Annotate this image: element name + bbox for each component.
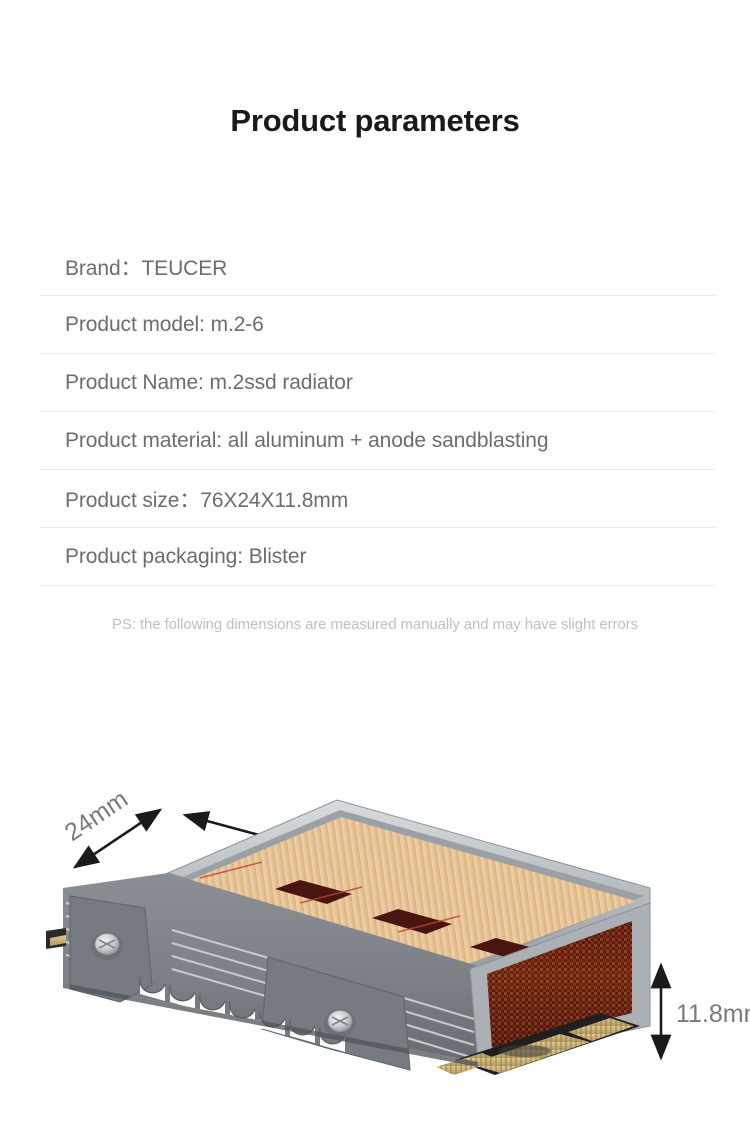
product-illustration: 24mm 76mm bbox=[0, 770, 750, 1143]
table-row: Brand：TEUCER bbox=[40, 238, 715, 296]
spec-product-name: Product Name: m.2ssd radiator bbox=[40, 371, 353, 395]
table-row: Product packaging: Blister bbox=[40, 528, 715, 586]
table-row: Product size：76X24X11.8mm bbox=[40, 470, 715, 528]
table-row: Product Name: m.2ssd radiator bbox=[40, 354, 715, 412]
measurement-disclaimer-note: PS: the following dimensions are measure… bbox=[0, 616, 750, 633]
dimension-11-8mm: 11.8mm bbox=[661, 965, 750, 1058]
pcb-stub-left bbox=[46, 928, 66, 949]
spec-brand: Brand：TEUCER bbox=[40, 252, 227, 282]
screw-head-right bbox=[324, 1009, 356, 1037]
screw-head-left bbox=[91, 932, 123, 960]
spec-product-model: Product model: m.2-6 bbox=[40, 313, 264, 337]
dimension-24mm: 24mm bbox=[60, 785, 160, 867]
table-row: Product material: all aluminum + anode s… bbox=[40, 412, 715, 470]
heatsink-render bbox=[46, 800, 650, 1075]
dimension-24mm-label: 24mm bbox=[60, 785, 133, 847]
spec-product-packaging: Product packaging: Blister bbox=[40, 545, 306, 569]
product-spec-table: Brand：TEUCER Product model: m.2-6 Produc… bbox=[40, 238, 715, 586]
page-title: Product parameters bbox=[0, 103, 750, 139]
table-row: Product model: m.2-6 bbox=[40, 296, 715, 354]
dimension-11-8mm-label: 11.8mm bbox=[676, 1000, 750, 1028]
spec-product-material: Product material: all aluminum + anode s… bbox=[40, 429, 548, 453]
spec-product-size: Product size：76X24X11.8mm bbox=[40, 484, 348, 514]
